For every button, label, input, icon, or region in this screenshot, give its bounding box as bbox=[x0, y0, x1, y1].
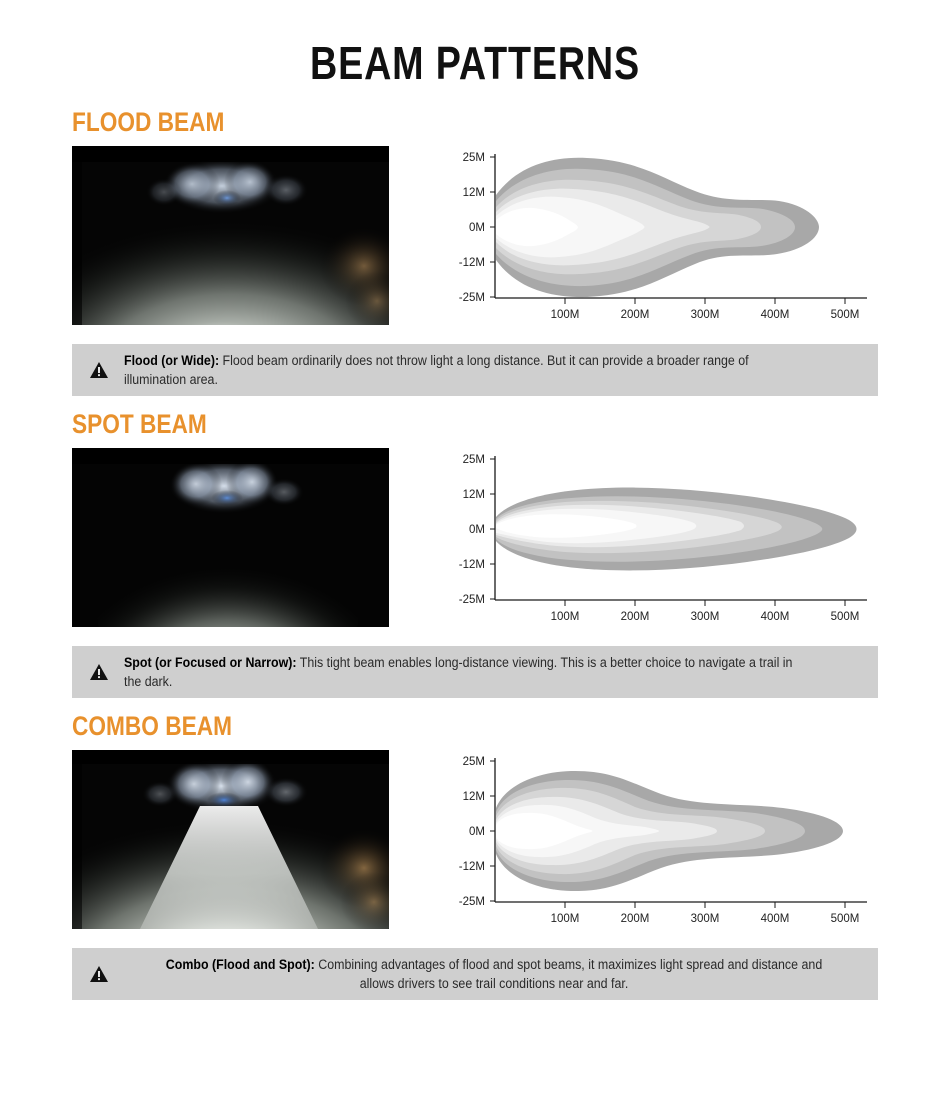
caption-bar-spot: Spot (or Focused or Narrow): This tight … bbox=[72, 646, 878, 698]
caption-label-flood: Flood (or Wide): bbox=[124, 353, 219, 368]
beam-contours-flood bbox=[496, 157, 819, 296]
warning-triangle-icon bbox=[88, 360, 110, 380]
caption-label-spot: Spot (or Focused or Narrow): bbox=[124, 655, 297, 670]
x-tick-500m: 500M bbox=[831, 309, 860, 321]
y-tick-12m: 12M bbox=[463, 489, 485, 501]
chart-combo-wrap: 25M 12M 0M -12M -25M 100M 200M 300M 400M… bbox=[389, 750, 910, 930]
section-body-spot: 25M 12M 0M -12M -25M 100M 200M 300M 400M… bbox=[0, 448, 950, 628]
warning-triangle-icon bbox=[88, 662, 110, 682]
y-tick-12m: 12M bbox=[463, 791, 485, 803]
section-header-flood: FLOOD BEAM bbox=[72, 108, 810, 138]
section-combo: COMBO BEAM bbox=[0, 712, 950, 1000]
x-tick-400m: 400M bbox=[761, 309, 790, 321]
beam-contours-spot bbox=[496, 487, 857, 570]
x-tick-300m: 300M bbox=[691, 309, 720, 321]
y-tick-25m: 25M bbox=[463, 454, 485, 466]
section-body-combo: 25M 12M 0M -12M -25M 100M 200M 300M 400M… bbox=[0, 750, 950, 930]
y-tick-neg25m: -25M bbox=[459, 594, 485, 606]
caption-bar-flood: Flood (or Wide): Flood beam ordinarily d… bbox=[72, 344, 878, 396]
beam-patterns-infographic: BEAM PATTERNS FLOOD BEAM bbox=[0, 0, 950, 1093]
caption-text-flood: Flood (or Wide): Flood beam ordinarily d… bbox=[124, 351, 805, 389]
chart-flood-wrap: 25M 12M 0M -12M -25M 100M 200M 300M 400M… bbox=[389, 146, 910, 326]
x-tick-100m: 100M bbox=[551, 611, 580, 623]
section-header-combo: COMBO BEAM bbox=[72, 712, 810, 742]
caption-text-spot: Spot (or Focused or Narrow): This tight … bbox=[124, 653, 805, 691]
y-tick-0m: 0M bbox=[469, 826, 485, 838]
x-tick-100m: 100M bbox=[551, 913, 580, 925]
photo-combo-wrap bbox=[72, 750, 389, 929]
photo-flood bbox=[72, 146, 389, 325]
x-tick-300m: 300M bbox=[691, 913, 720, 925]
y-tick-0m: 0M bbox=[469, 222, 485, 234]
x-tick-500m: 500M bbox=[831, 611, 860, 623]
y-tick-0m: 0M bbox=[469, 524, 485, 536]
x-tick-300m: 300M bbox=[691, 611, 720, 623]
caption-text-combo: Combo (Flood and Spot): Combining advant… bbox=[154, 955, 835, 993]
chart-spot: 25M 12M 0M -12M -25M 100M 200M 300M 400M… bbox=[447, 448, 910, 628]
y-tick-25m: 25M bbox=[463, 152, 485, 164]
chart-spot-wrap: 25M 12M 0M -12M -25M 100M 200M 300M 400M… bbox=[389, 448, 910, 628]
y-tick-neg12m: -12M bbox=[459, 559, 485, 571]
section-body-flood: 25M 12M 0M -12M -25M 100M 200M 300M 400M… bbox=[0, 146, 950, 326]
page-title: BEAM PATTERNS bbox=[86, 0, 865, 94]
y-tick-25m: 25M bbox=[463, 756, 485, 768]
x-tick-400m: 400M bbox=[761, 611, 790, 623]
x-tick-100m: 100M bbox=[551, 309, 580, 321]
y-tick-12m: 12M bbox=[463, 187, 485, 199]
caption-label-combo: Combo (Flood and Spot): bbox=[166, 957, 315, 972]
section-spot: SPOT BEAM bbox=[0, 410, 950, 698]
caption-bar-combo: Combo (Flood and Spot): Combining advant… bbox=[72, 948, 878, 1000]
y-tick-neg12m: -12M bbox=[459, 257, 485, 269]
caption-body-combo: Combining advantages of flood and spot b… bbox=[315, 957, 822, 991]
chart-combo: 25M 12M 0M -12M -25M 100M 200M 300M 400M… bbox=[447, 750, 910, 930]
photo-spot bbox=[72, 448, 389, 627]
y-tick-neg25m: -25M bbox=[459, 292, 485, 304]
photo-spot-wrap bbox=[72, 448, 389, 627]
section-flood: FLOOD BEAM bbox=[0, 108, 950, 396]
photo-combo bbox=[72, 750, 389, 929]
photo-flood-wrap bbox=[72, 146, 389, 325]
x-tick-200m: 200M bbox=[621, 309, 650, 321]
y-tick-neg25m: -25M bbox=[459, 896, 485, 908]
y-tick-neg12m: -12M bbox=[459, 861, 485, 873]
x-tick-200m: 200M bbox=[621, 913, 650, 925]
beam-contours-combo bbox=[496, 771, 843, 891]
section-header-spot: SPOT BEAM bbox=[72, 410, 810, 440]
chart-flood: 25M 12M 0M -12M -25M 100M 200M 300M 400M… bbox=[447, 146, 910, 326]
warning-triangle-icon bbox=[88, 964, 110, 984]
x-tick-200m: 200M bbox=[621, 611, 650, 623]
x-tick-500m: 500M bbox=[831, 913, 860, 925]
x-tick-400m: 400M bbox=[761, 913, 790, 925]
